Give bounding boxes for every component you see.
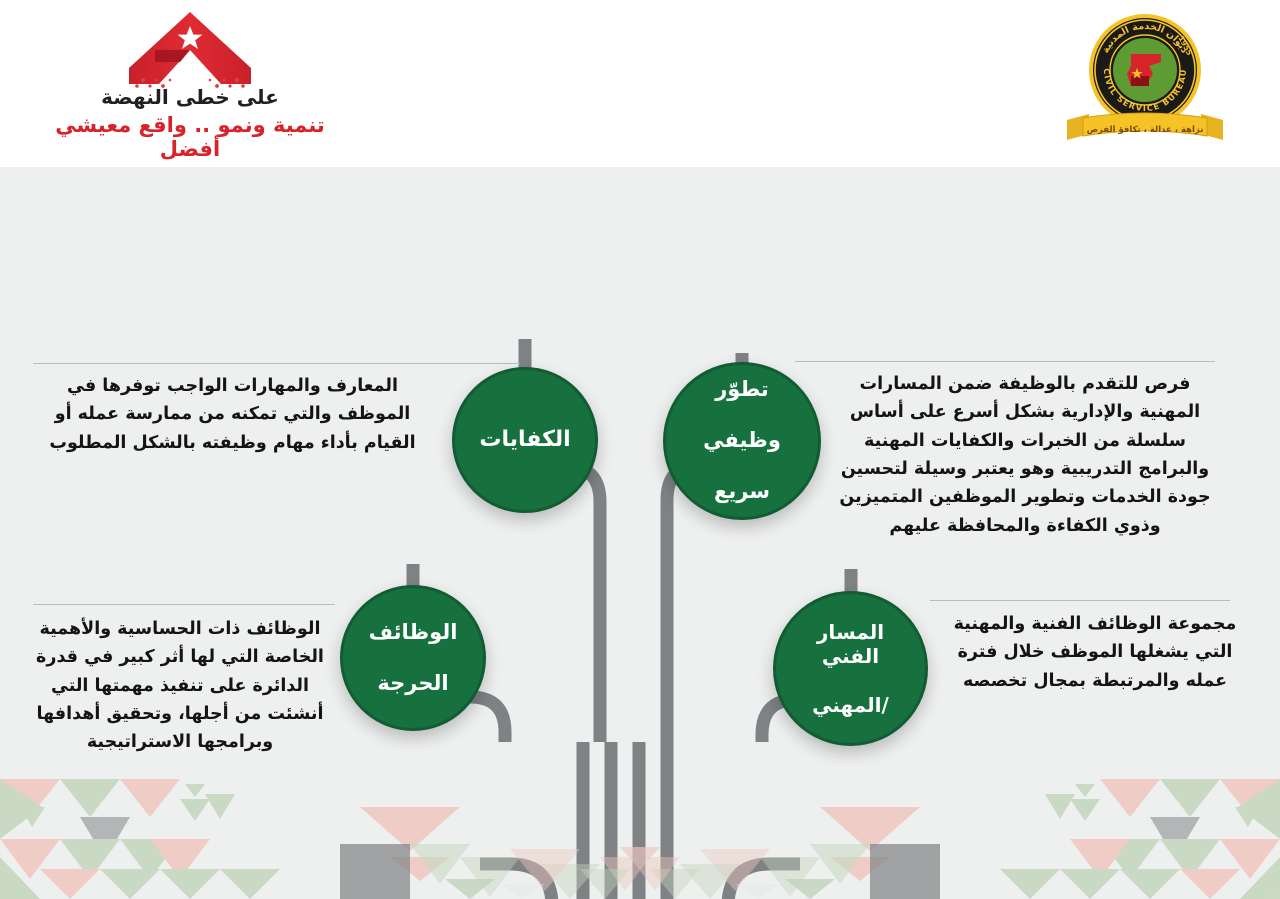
divider-top-right xyxy=(795,361,1215,362)
jordan-chevron-star-icon xyxy=(125,10,255,90)
node-critical-jobs-label: الوظائف الحرجة xyxy=(353,620,474,697)
svg-text:نزاهة ، عدالة ، تكافؤ الفرص: نزاهة ، عدالة ، تكافؤ الفرص xyxy=(1087,125,1204,135)
divider-top-left xyxy=(33,363,520,364)
node-competencies-label: الكفايات xyxy=(471,427,578,454)
node-competencies[interactable]: الكفايات xyxy=(452,367,598,513)
nahda-logo: على خطى النهضة تنمية ونمو .. واقع معيشي … xyxy=(40,10,340,160)
line-2: /المهني xyxy=(784,693,917,717)
definition-competencies: المعارف والمهارات الواجب توفرها في الموظ… xyxy=(35,372,430,457)
nahda-slogan: على خطى النهضة xyxy=(40,86,340,108)
slide-header: على خطى النهضة تنمية ونمو .. واقع معيشي … xyxy=(0,0,1280,167)
trunk-bundle xyxy=(520,687,589,742)
trunk-lines xyxy=(583,742,667,899)
node-technical-professional-path-label: المسار الفني /المهني xyxy=(776,620,925,718)
line-2: وظيفي xyxy=(695,428,789,454)
csb-logo: ديوان الخدمة المدنية CIVIL SERVICE BUREA… xyxy=(1045,8,1245,158)
line-1: المسار الفني xyxy=(784,620,917,669)
definition-critical-jobs: الوظائف ذات الحساسية والأهمية الخاصة الت… xyxy=(25,615,335,757)
line-2: الحرجة xyxy=(361,671,466,697)
node-critical-jobs[interactable]: الوظائف الحرجة xyxy=(340,585,486,731)
definition-rapid-career-growth: فرص للتقدم بالوظيفة ضمن المسارات المهنية… xyxy=(830,370,1220,540)
slide-body: الكفايات تطوّر وظيفي سريع الوظائف الحرجة… xyxy=(0,167,1280,899)
civil-service-bureau-seal-icon: ديوان الخدمة المدنية CIVIL SERVICE BUREA… xyxy=(1045,8,1245,160)
node-rapid-career-growth-label: تطوّر وظيفي سريع xyxy=(687,377,797,505)
definition-technical-professional-path: مجموعة الوظائف الفنية والمهنية التي يشغل… xyxy=(935,610,1255,695)
line-3: سريع xyxy=(695,479,789,505)
divider-bottom-right xyxy=(930,600,1230,601)
divider-bottom-left xyxy=(33,604,335,605)
line-1: الوظائف xyxy=(361,620,466,646)
node-rapid-career-growth[interactable]: تطوّر وظيفي سريع xyxy=(663,362,821,520)
slide-root: على خطى النهضة تنمية ونمو .. واقع معيشي … xyxy=(0,0,1280,899)
nahda-tagline: تنمية ونمو .. واقع معيشي أفضل xyxy=(40,113,340,161)
line-1: تطوّر xyxy=(695,377,789,403)
node-technical-professional-path[interactable]: المسار الفني /المهني xyxy=(773,591,928,746)
